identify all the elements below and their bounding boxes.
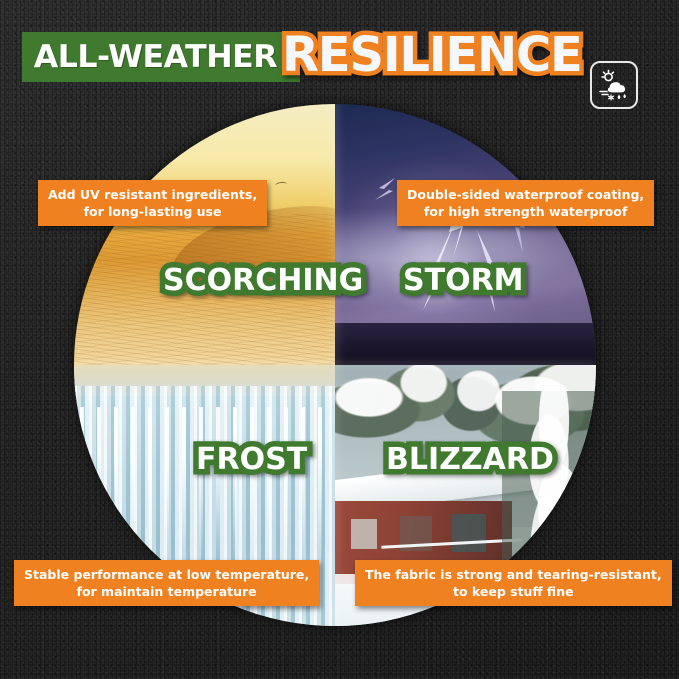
category-label-blizzard: BLIZZARD <box>386 441 554 479</box>
callout-line: Double-sided waterproof coating, <box>407 186 644 203</box>
bird-silhouette-icon <box>275 181 288 189</box>
callout-frost: Stable performance at low temperature, f… <box>14 560 319 606</box>
category-label-frost: FROST <box>196 441 307 479</box>
page-title-secondary: RESILIENCE <box>282 25 582 85</box>
category-label-scorching: SCORCHING <box>163 262 363 300</box>
callout-line: to keep stuff fine <box>365 583 662 600</box>
cabin-window <box>351 519 377 549</box>
callout-blizzard: The fabric is strong and tearing-resista… <box>355 560 672 606</box>
storm-horizon <box>335 323 596 365</box>
poster-header: ALL-WEATHER RESILIENCE <box>0 28 679 90</box>
icicle-spikes <box>74 407 335 569</box>
page-title-primary: ALL-WEATHER <box>19 39 277 75</box>
weather-icon-badge <box>590 61 638 109</box>
callout-scorching: Add UV resistant ingredients, for long-l… <box>38 180 267 226</box>
callout-line: for high strength waterproof <box>407 203 644 220</box>
callout-line: The fabric is strong and tearing-resista… <box>365 566 662 583</box>
callout-line: for maintain temperature <box>24 583 309 600</box>
weather-mixed-icon <box>596 67 632 103</box>
quadrant-storm <box>335 104 596 365</box>
callout-line: for long-lasting use <box>48 203 257 220</box>
quadrant-scorching <box>74 104 335 365</box>
callout-storm: Double-sided waterproof coating, for hig… <box>397 180 654 226</box>
title-green-bar: ALL-WEATHER <box>22 32 300 82</box>
callout-line: Stable performance at low temperature, <box>24 566 309 583</box>
callout-line: Add UV resistant ingredients, <box>48 186 257 203</box>
poster-canvas: ALL-WEATHER RESILIENCE <box>0 0 679 679</box>
category-label-storm: STORM <box>403 262 524 300</box>
